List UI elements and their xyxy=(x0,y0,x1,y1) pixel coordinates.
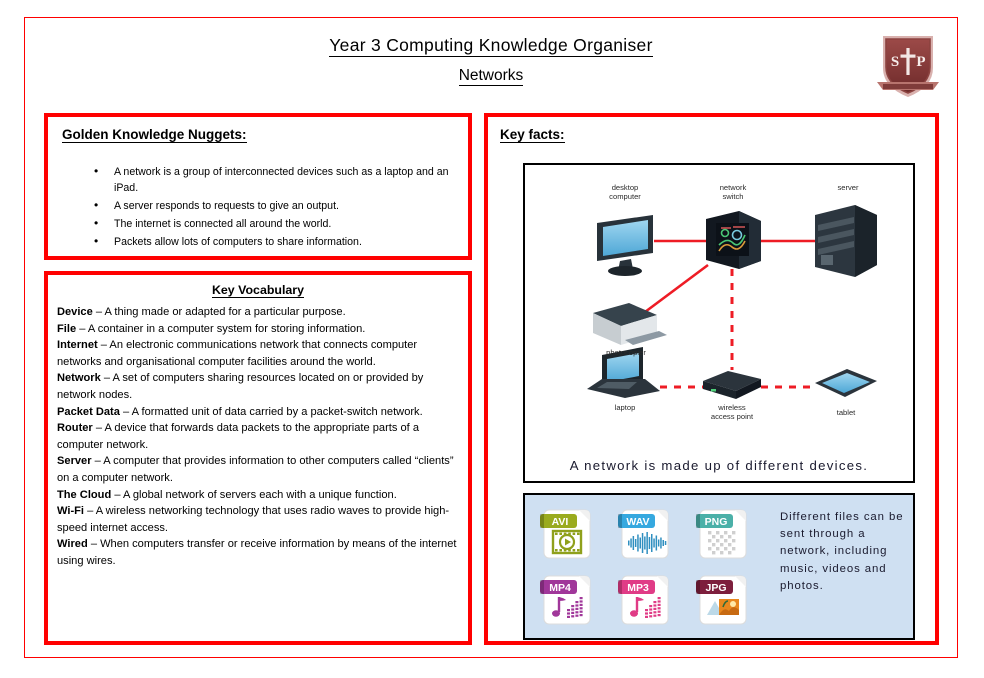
vocabulary-entry: Wi-Fi – A wireless networking technology… xyxy=(44,503,460,536)
vocabulary-term: Internet xyxy=(57,339,98,351)
nuggets-list: A network is a group of interconnected d… xyxy=(90,165,454,253)
svg-text:MP3: MP3 xyxy=(627,582,649,594)
svg-text:WAV: WAV xyxy=(626,516,649,528)
vocabulary-entry: Wired – When computers transfer or recei… xyxy=(44,536,460,569)
vocabulary-heading: Key Vocabulary xyxy=(48,283,468,297)
file-type-mp4-icon: MP4 xyxy=(539,571,595,627)
label-wireless-access-point: wirelessaccess point xyxy=(687,403,777,422)
label-server: server xyxy=(803,183,893,192)
vocabulary-entry: Router – A device that forwards data pac… xyxy=(44,420,460,453)
file-type-png-icon: PNG xyxy=(695,505,751,561)
key-facts-heading: Key facts: xyxy=(500,127,565,143)
vocabulary-term: Packet Data xyxy=(57,406,120,418)
label-desktop-computer: desktopcomputer xyxy=(580,183,670,202)
svg-text:PNG: PNG xyxy=(705,516,728,528)
vocabulary-definition: A container in a computer system for sto… xyxy=(88,323,365,335)
tablet-icon xyxy=(815,369,877,397)
file-type-avi-icon: AVI xyxy=(539,505,595,561)
vocabulary-term: Wired xyxy=(57,538,88,550)
vocabulary-definition: A device that forwards data packets to t… xyxy=(57,422,419,451)
vocabulary-entry: The Cloud – A global network of servers … xyxy=(44,487,460,504)
diagram-caption: A network is made up of different device… xyxy=(525,458,913,473)
vocabulary-definition: A formatted unit of data carried by a pa… xyxy=(132,406,423,418)
label-network-switch: networkswitch xyxy=(688,183,778,202)
network-diagram-panel: desktopcomputer networkswitch server pho… xyxy=(523,163,915,483)
svg-text:JPG: JPG xyxy=(705,582,726,594)
file-type-mp3-icon: MP3 xyxy=(617,571,673,627)
knowledge-organiser-page: Year 3 Computing Knowledge Organiser Net… xyxy=(24,17,958,658)
vocabulary-definition: A wireless networking technology that us… xyxy=(57,505,449,534)
server-icon xyxy=(815,205,877,277)
page-subtitle-text: Networks xyxy=(459,67,524,86)
photocopier-icon xyxy=(593,303,667,345)
school-crest: S P xyxy=(871,24,945,106)
vocabulary-definition: When computers transfer or receive infor… xyxy=(57,538,456,567)
vocabulary-term: Wi-Fi xyxy=(57,505,84,517)
vocabulary-term: Router xyxy=(57,422,93,434)
file-types-panel: AVIWAVPNGMP4MP3JPG Different files can b… xyxy=(523,493,915,640)
key-vocabulary-box: Key Vocabulary Device – A thing made or … xyxy=(44,271,472,645)
vocabulary-entry: Server – A computer that provides inform… xyxy=(44,453,460,486)
vocabulary-heading-text: Key Vocabulary xyxy=(212,283,304,298)
wireless-access-point-icon xyxy=(703,371,761,399)
vocabulary-term: The Cloud xyxy=(57,489,111,501)
vocabulary-entry: Network – A set of computers sharing res… xyxy=(44,370,460,403)
svg-text:AVI: AVI xyxy=(552,516,569,528)
files-description: Different files can be sent through a ne… xyxy=(780,509,910,595)
vocabulary-entry: Packet Data – A formatted unit of data c… xyxy=(44,404,460,421)
label-laptop: laptop xyxy=(580,403,670,412)
vocabulary-term: Network xyxy=(57,372,101,384)
crest-initial-left: S xyxy=(891,54,899,70)
svg-text:MP4: MP4 xyxy=(549,582,571,594)
vocabulary-definition: A thing made or adapted for a particular… xyxy=(105,306,346,318)
nugget-item: Packets allow lots of computers to share… xyxy=(90,235,454,251)
vocabulary-definition: An electronic communications network tha… xyxy=(57,339,417,368)
page-header: Year 3 Computing Knowledge Organiser Net… xyxy=(25,18,957,100)
label-tablet: tablet xyxy=(801,408,891,417)
golden-knowledge-nuggets-box: Golden Knowledge Nuggets: A network is a… xyxy=(44,113,472,260)
page-title-text: Year 3 Computing Knowledge Organiser xyxy=(329,35,652,57)
nugget-item: A network is a group of interconnected d… xyxy=(90,165,454,196)
vocabulary-term: Device xyxy=(57,306,93,318)
vocabulary-list: Device – A thing made or adapted for a p… xyxy=(57,304,460,570)
vocabulary-entry: Device – A thing made or adapted for a p… xyxy=(44,304,460,321)
label-photocopier: photocopier xyxy=(581,348,671,357)
link-switch-photocopier xyxy=(645,265,708,312)
vocabulary-definition: A computer that provides information to … xyxy=(57,455,454,484)
vocabulary-definition: A global network of servers each with a … xyxy=(123,489,397,501)
network-switch-icon xyxy=(706,211,761,269)
nugget-item: The internet is connected all around the… xyxy=(90,217,454,233)
file-type-jpg-icon: JPG xyxy=(695,571,751,627)
vocabulary-term: File xyxy=(57,323,76,335)
vocabulary-term: Server xyxy=(57,455,92,467)
key-facts-box: Key facts: xyxy=(484,113,939,645)
crest-initial-right: P xyxy=(916,54,925,70)
nugget-item: A server responds to requests to give an… xyxy=(90,199,454,215)
nuggets-heading: Golden Knowledge Nuggets: xyxy=(62,127,247,143)
vocabulary-entry: Internet – An electronic communications … xyxy=(44,337,460,370)
desktop-computer-icon xyxy=(597,215,653,276)
vocabulary-definition: A set of computers sharing resources loc… xyxy=(57,372,423,401)
page-title: Year 3 Computing Knowledge Organiser xyxy=(25,35,957,56)
vocabulary-entry: File – A container in a computer system … xyxy=(44,321,460,338)
page-subtitle: Networks xyxy=(25,67,957,85)
file-type-wav-icon: WAV xyxy=(617,505,673,561)
